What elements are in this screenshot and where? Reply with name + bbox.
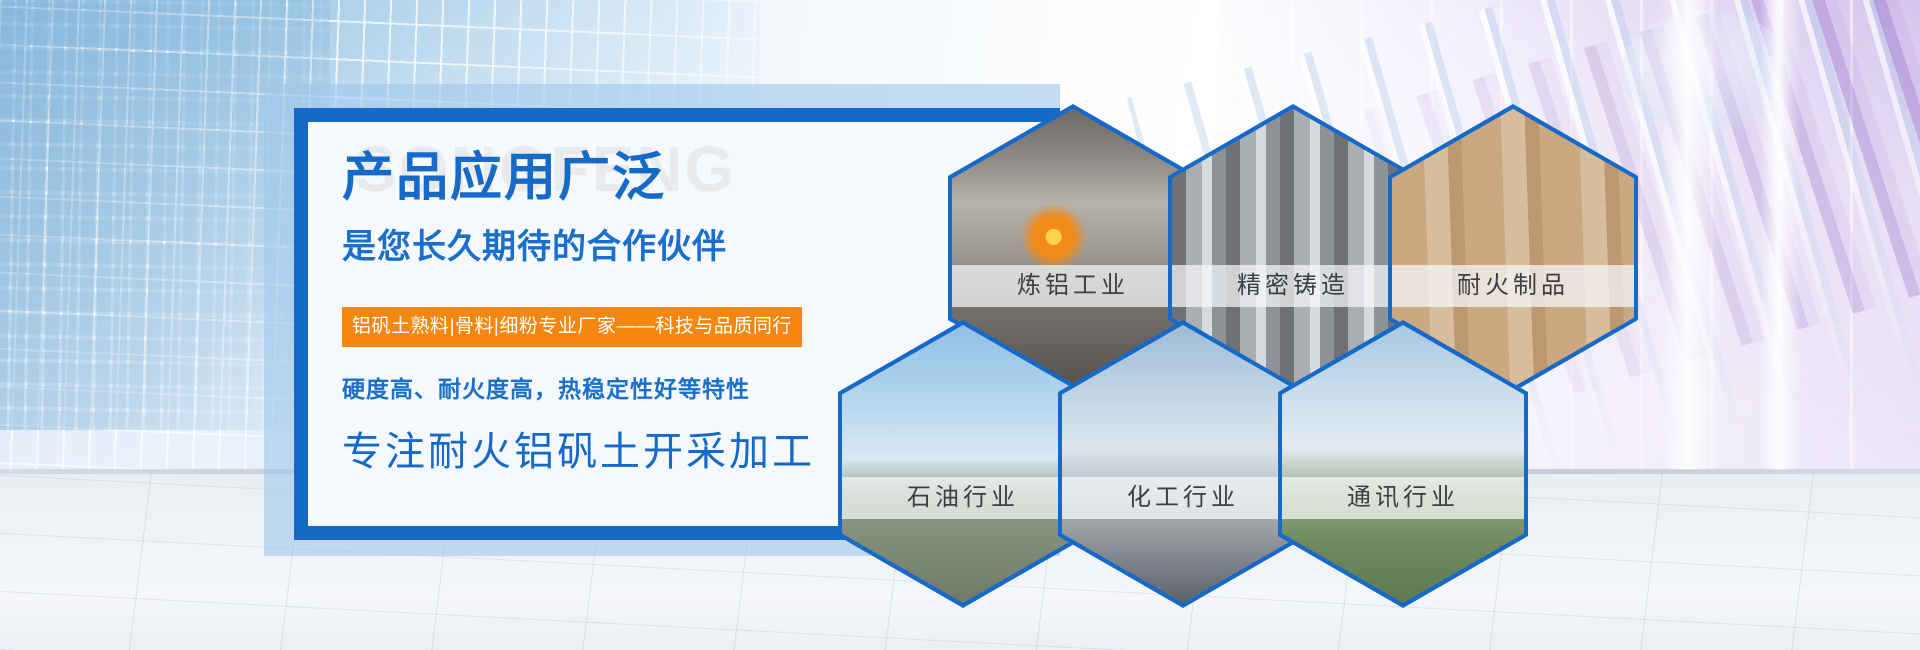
headline-secondary: 专注耐火铝矾土开采加工: [342, 432, 815, 472]
tagline-badge: 铝矾土熟料|骨料|细粉专业厂家——科技与品质同行: [342, 307, 802, 347]
feature-text: 硬度高、耐火度高，热稳定性好等特性: [342, 378, 750, 401]
hex-label-smelting: 炼铝工业: [952, 265, 1194, 307]
pillar-left-highlight: [1660, 0, 1720, 520]
hex-label-chemical: 化工行业: [1062, 477, 1304, 519]
banner-stage: SONGFENG 产品应用广泛 是您长久期待的合作伙伴 铝矾土熟料|骨料|细粉专…: [0, 0, 1920, 650]
pillar-right-highlight: [1760, 0, 1800, 520]
hex-label-refractory: 耐火制品: [1392, 265, 1634, 307]
page-title: 产品应用广泛: [342, 152, 666, 204]
subtitle: 是您长久期待的合作伙伴: [342, 230, 727, 264]
hex-label-casting: 精密铸造: [1172, 265, 1414, 307]
hex-label-communication: 通讯行业: [1282, 477, 1524, 519]
hex-label-petroleum: 石油行业: [842, 477, 1084, 519]
